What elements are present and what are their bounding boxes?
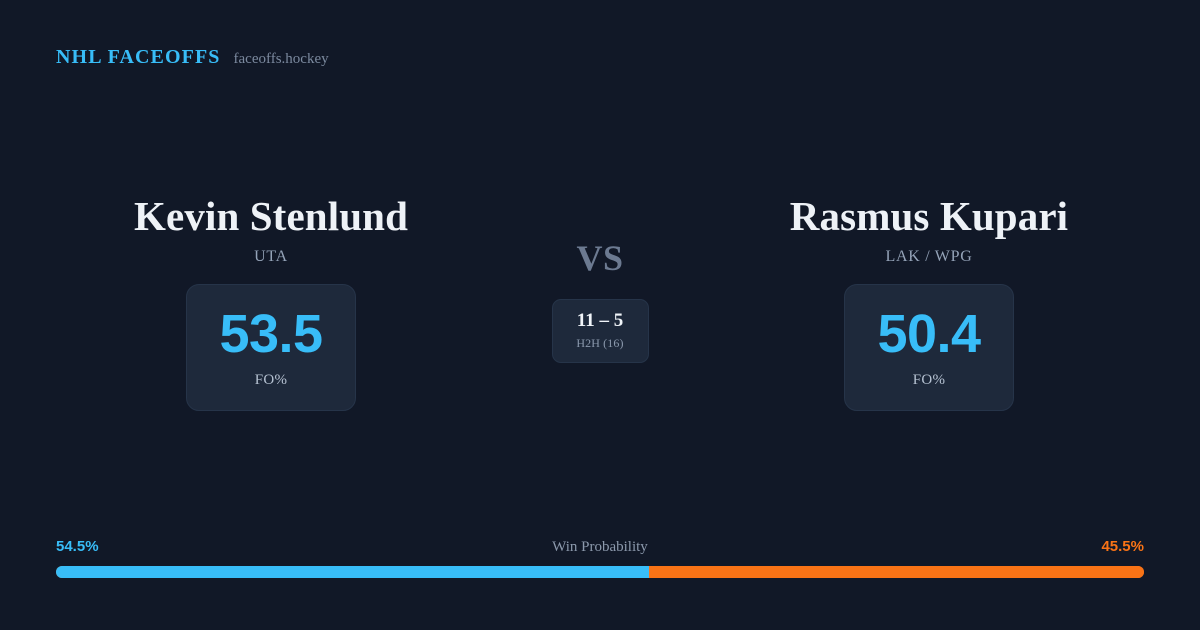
site-header: NHL FACEOFFS faceoffs.hockey — [56, 46, 329, 69]
win-probability-bar — [56, 566, 1144, 578]
win-probability-labels: 54.5% Win Probability 45.5% — [56, 538, 1144, 556]
faceoff-pct-label-left: FO% — [255, 372, 288, 389]
matchup-section: Kevin Stenlund UTA 53.5 FO% VS 11 – 5 H2… — [0, 192, 1200, 411]
player-team-left: UTA — [254, 248, 288, 266]
player-team-right: LAK / WPG — [885, 248, 972, 266]
player-card-right: Rasmus Kupari LAK / WPG 50.4 FO% — [695, 192, 1163, 411]
brand-title: NHL FACEOFFS — [56, 46, 221, 69]
win-probability-fill-left — [56, 566, 649, 578]
faceoff-stat-card-left: 53.5 FO% — [186, 284, 356, 411]
head-to-head-record: 11 – 5 — [577, 311, 623, 330]
win-probability-title: Win Probability — [552, 539, 648, 556]
head-to-head-card: 11 – 5 H2H (16) — [552, 299, 649, 363]
versus-label: VS — [576, 240, 623, 276]
win-probability-fill-right — [649, 566, 1144, 578]
versus-section: VS 11 – 5 H2H (16) — [505, 192, 695, 363]
player-name-right: Rasmus Kupari — [790, 192, 1068, 240]
win-probability-right-pct: 45.5% — [1101, 538, 1144, 555]
faceoff-stat-card-right: 50.4 FO% — [844, 284, 1014, 411]
brand-domain: faceoffs.hockey — [234, 51, 329, 68]
faceoff-pct-value-right: 50.4 — [878, 307, 981, 361]
win-probability-section: 54.5% Win Probability 45.5% — [56, 538, 1144, 578]
win-probability-left-pct: 54.5% — [56, 538, 99, 555]
player-card-left: Kevin Stenlund UTA 53.5 FO% — [37, 192, 505, 411]
faceoff-pct-value-left: 53.5 — [220, 307, 323, 361]
faceoff-pct-label-right: FO% — [913, 372, 946, 389]
head-to-head-label: H2H (16) — [576, 336, 623, 351]
player-name-left: Kevin Stenlund — [134, 192, 408, 240]
